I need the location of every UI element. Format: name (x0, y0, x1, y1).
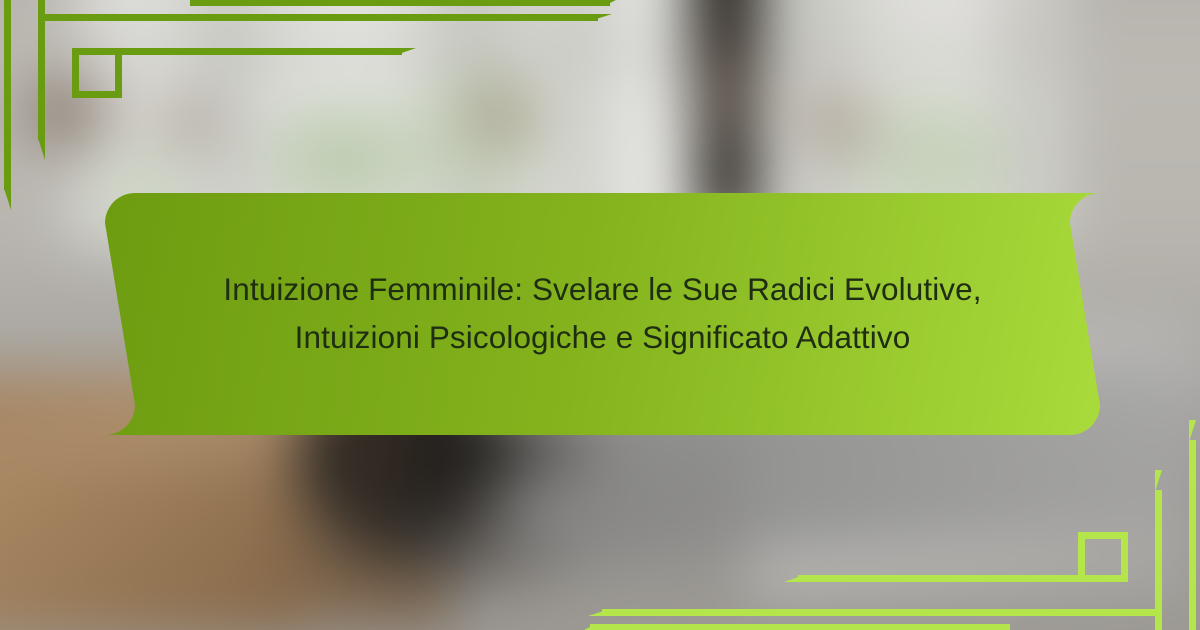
page-title-line-1: Intuizione Femminile: Svelare le Sue Rad… (223, 271, 981, 307)
cover-stage: Intuizione Femminile: Svelare le Sue Rad… (0, 0, 1200, 630)
page-title: Intuizione Femminile: Svelare le Sue Rad… (223, 266, 981, 362)
ornament-line-vertical (1155, 490, 1162, 630)
page-title-line-2: Intuizioni Psicologiche e Significato Ad… (223, 314, 981, 362)
ornament-line-horizontal (38, 14, 598, 21)
ornament-line-vertical (4, 0, 11, 190)
ornament-line-horizontal (602, 609, 1162, 616)
ornament-square (72, 48, 122, 98)
ornament-line-vertical (38, 0, 45, 140)
ornament-line-top-strip (190, 0, 610, 6)
ornament-line-bottom-strip (590, 624, 1010, 630)
ornament-square (1078, 532, 1128, 582)
ornament-line-vertical (1189, 440, 1196, 630)
title-card: Intuizione Femminile: Svelare le Sue Rad… (105, 193, 1100, 435)
